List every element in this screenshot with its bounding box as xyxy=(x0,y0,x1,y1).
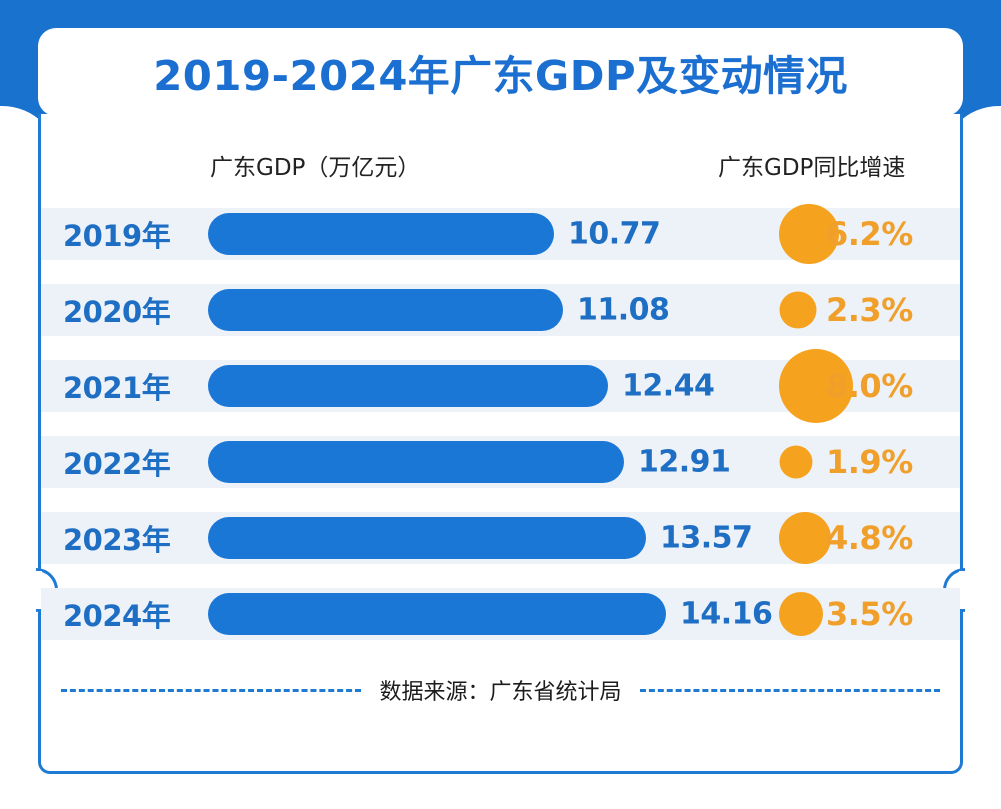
growth-rate-bubble xyxy=(779,512,831,564)
gdp-bar xyxy=(208,289,563,331)
growth-rate-label: 8.0% xyxy=(826,367,913,405)
growth-rate-bubble xyxy=(779,292,816,329)
source-text: 数据来源：广东省统计局 xyxy=(379,674,621,706)
dashed-divider-left xyxy=(61,689,361,692)
source-footer: 数据来源：广东省统计局 xyxy=(41,660,960,720)
table-row: 2020年11.082.3% xyxy=(41,272,960,348)
growth-column-header: 广东GDP同比增速 xyxy=(718,148,905,182)
gdp-value-label: 13.57 xyxy=(660,521,752,556)
gdp-value-label: 12.44 xyxy=(622,369,714,404)
growth-rate-label: 2.3% xyxy=(826,291,913,329)
year-label: 2023年 xyxy=(63,517,170,559)
year-label: 2019年 xyxy=(63,213,170,255)
gdp-bar xyxy=(208,213,554,255)
year-label: 2021年 xyxy=(63,365,170,407)
growth-rate-label: 3.5% xyxy=(826,595,913,633)
table-row: 2019年10.776.2% xyxy=(41,196,960,272)
year-label: 2020年 xyxy=(63,289,170,331)
page-title: 2019-2024年广东GDP及变动情况 xyxy=(153,42,848,102)
growth-rate-label: 1.9% xyxy=(826,443,913,481)
gdp-value-label: 10.77 xyxy=(568,217,660,252)
dashed-divider-right xyxy=(640,689,940,692)
gdp-column-header: 广东GDP（万亿元） xyxy=(210,148,420,182)
gdp-value-label: 12.91 xyxy=(638,445,730,480)
chart-rows: 2019年10.776.2%2020年11.082.3%2021年12.448.… xyxy=(41,196,960,652)
gdp-bar xyxy=(208,365,608,407)
gdp-bar xyxy=(208,441,624,483)
table-row: 2023年13.574.8% xyxy=(41,500,960,576)
table-row: 2021年12.448.0% xyxy=(41,348,960,424)
gdp-value-label: 11.08 xyxy=(577,293,669,328)
gdp-bar xyxy=(208,593,666,635)
title-card: 2019-2024年广东GDP及变动情况 xyxy=(38,28,963,116)
growth-rate-label: 6.2% xyxy=(826,215,913,253)
growth-rate-bubble xyxy=(779,592,823,636)
growth-rate-label: 4.8% xyxy=(826,519,913,557)
table-row: 2024年14.163.5% xyxy=(41,576,960,652)
year-label: 2024年 xyxy=(63,593,170,635)
gdp-bar xyxy=(208,517,646,559)
table-row: 2022年12.911.9% xyxy=(41,424,960,500)
year-label: 2022年 xyxy=(63,441,170,483)
gdp-value-label: 14.16 xyxy=(680,597,772,632)
infographic-root: 2019-2024年广东GDP及变动情况 广东GDP（万亿元） 广东GDP同比增… xyxy=(0,0,1001,809)
growth-rate-bubble xyxy=(779,446,812,479)
column-headers: 广东GDP（万亿元） 广东GDP同比增速 xyxy=(38,140,963,190)
